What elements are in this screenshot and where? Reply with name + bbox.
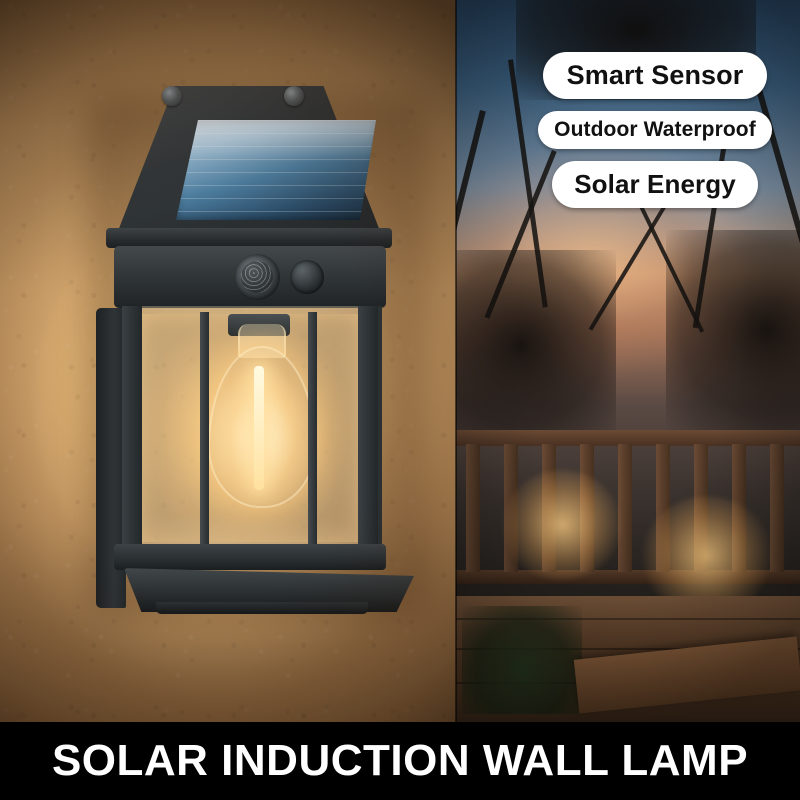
foliage-left xyxy=(456,250,616,440)
lamp-product-photo xyxy=(0,0,456,722)
solar-wall-lamp xyxy=(72,78,422,603)
lamp-base-lip xyxy=(156,602,368,614)
railing-baluster xyxy=(618,444,632,572)
lantern-frame-right xyxy=(358,306,378,550)
feature-pill-solar-energy: Solar Energy xyxy=(552,161,758,208)
product-poster: Smart Sensor Outdoor Waterproof Solar En… xyxy=(0,0,800,800)
banner-title: SOLAR INDUCTION WALL LAMP xyxy=(52,736,748,786)
lantern-post-left xyxy=(200,312,209,544)
patio-light-pool-1 xyxy=(502,470,622,580)
railing-baluster xyxy=(770,444,784,572)
image-seam-divider xyxy=(455,0,457,722)
feature-pill-outdoor-waterproof: Outdoor Waterproof xyxy=(538,111,772,149)
lamp-base-top xyxy=(114,544,386,570)
feature-pill-smart-sensor: Smart Sensor xyxy=(543,52,768,99)
solar-panel-gloss xyxy=(176,120,376,162)
lantern-frame-left xyxy=(122,306,142,550)
solar-panel xyxy=(176,120,376,220)
mount-screw-right-icon xyxy=(284,86,304,106)
bulb-filament xyxy=(254,366,264,490)
mount-screw-left-icon xyxy=(162,86,182,106)
potted-plant xyxy=(462,606,582,714)
foliage-right xyxy=(666,230,800,430)
bottom-banner: SOLAR INDUCTION WALL LAMP xyxy=(0,722,800,800)
motion-sensor-icon xyxy=(234,254,280,300)
railing-baluster xyxy=(466,444,480,572)
lantern-post-right xyxy=(308,312,317,544)
light-sensor-icon xyxy=(290,260,324,294)
feature-pill-list: Smart Sensor Outdoor Waterproof Solar En… xyxy=(520,52,790,208)
lamp-hood-rim xyxy=(106,228,392,248)
